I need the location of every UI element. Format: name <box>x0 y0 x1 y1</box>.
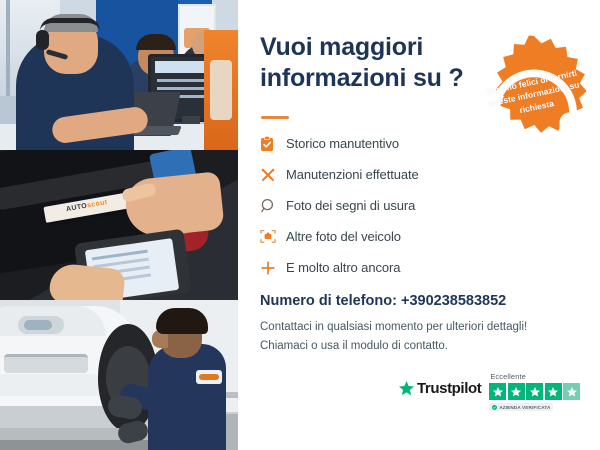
photo-scan-icon <box>260 229 286 244</box>
star-box-partial <box>563 383 580 400</box>
uniform-logo-decor <box>196 370 222 384</box>
lift-base-decor <box>0 440 168 450</box>
verified-label: AZIENDA VERIFICATA <box>499 405 550 410</box>
check-circle-icon <box>492 405 497 410</box>
list-item-label: Foto dei segni di usura <box>286 198 415 213</box>
call-center-agents-photo <box>0 0 238 150</box>
trustpilot-rating: Eccellente <box>489 372 580 411</box>
list-item-label: Manutenzioni effettuate <box>286 167 419 182</box>
feature-list: Storico manutentivo Manutenzioni effettu… <box>260 130 490 285</box>
trustpilot-wordmark: Trustpilot <box>417 380 481 397</box>
star-box <box>489 383 506 400</box>
mechanic-hair-decor <box>156 308 208 334</box>
magnifier-icon <box>260 198 286 214</box>
page-title: Vuoi maggiori informazioni su ? <box>260 32 470 93</box>
star-box <box>545 383 562 400</box>
tools-cross-icon <box>260 167 286 183</box>
content-panel: Vuoi maggiori informazioni su ? Saremo f… <box>238 0 600 450</box>
photo-column: AUTOscout <box>0 0 238 450</box>
list-item: Altre foto del veicolo <box>260 223 490 250</box>
orange-signage-decor <box>204 30 238 150</box>
trustpilot-star-icon <box>398 380 415 397</box>
phone-number[interactable]: Numero di telefono: +390238583852 <box>260 293 506 309</box>
callout-badge: Saremo felici di fornirti queste informa… <box>482 34 586 138</box>
headset-earcup-decor <box>36 30 49 50</box>
headlight-decor <box>18 316 64 334</box>
plus-icon <box>260 260 286 276</box>
list-item: Manutenzioni effettuate <box>260 161 490 188</box>
list-item-label: Storico manutentivo <box>286 136 399 151</box>
headset-band-decor <box>40 18 100 31</box>
list-item-label: E molto altro ancora <box>286 260 400 275</box>
contact-line-1: Contattaci in qualsiasi momento per ulte… <box>260 321 527 333</box>
list-item: Foto dei segni di usura <box>260 192 490 219</box>
vehicle-inspection-photo: AUTOscout <box>0 150 238 300</box>
contact-text: Contattaci in qualsiasi momento per ulte… <box>260 318 560 355</box>
window-frame-decor <box>6 0 10 96</box>
clipboard-check-icon <box>260 136 286 152</box>
star-box <box>508 383 525 400</box>
hand-upper-decor <box>123 171 225 239</box>
star-box <box>526 383 543 400</box>
list-item-label: Altre foto del veicolo <box>286 229 401 244</box>
badge-text-wrap: Saremo felici di fornirti queste informa… <box>482 34 586 138</box>
title-divider <box>261 116 289 119</box>
verified-badge: AZIENDA VERIFICATA <box>489 403 553 411</box>
car-bumper-decor <box>0 374 106 396</box>
mechanic-tire-photo <box>0 300 238 450</box>
list-item: Storico manutentivo <box>260 130 490 157</box>
contact-line-2: Chiamaci o usa il modulo di contatto. <box>260 340 448 352</box>
trustpilot-widget[interactable]: Trustpilot Eccellente <box>398 372 580 411</box>
rating-label: Eccellente <box>490 372 526 381</box>
trustpilot-logo: Trustpilot <box>398 372 481 397</box>
badge-text: Saremo felici di fornirti queste informa… <box>479 65 588 123</box>
car-grille-decor <box>4 354 88 373</box>
star-rating <box>489 383 580 400</box>
promo-banner: AUTOscout <box>0 0 600 450</box>
list-item: E molto altro ancora <box>260 254 490 281</box>
